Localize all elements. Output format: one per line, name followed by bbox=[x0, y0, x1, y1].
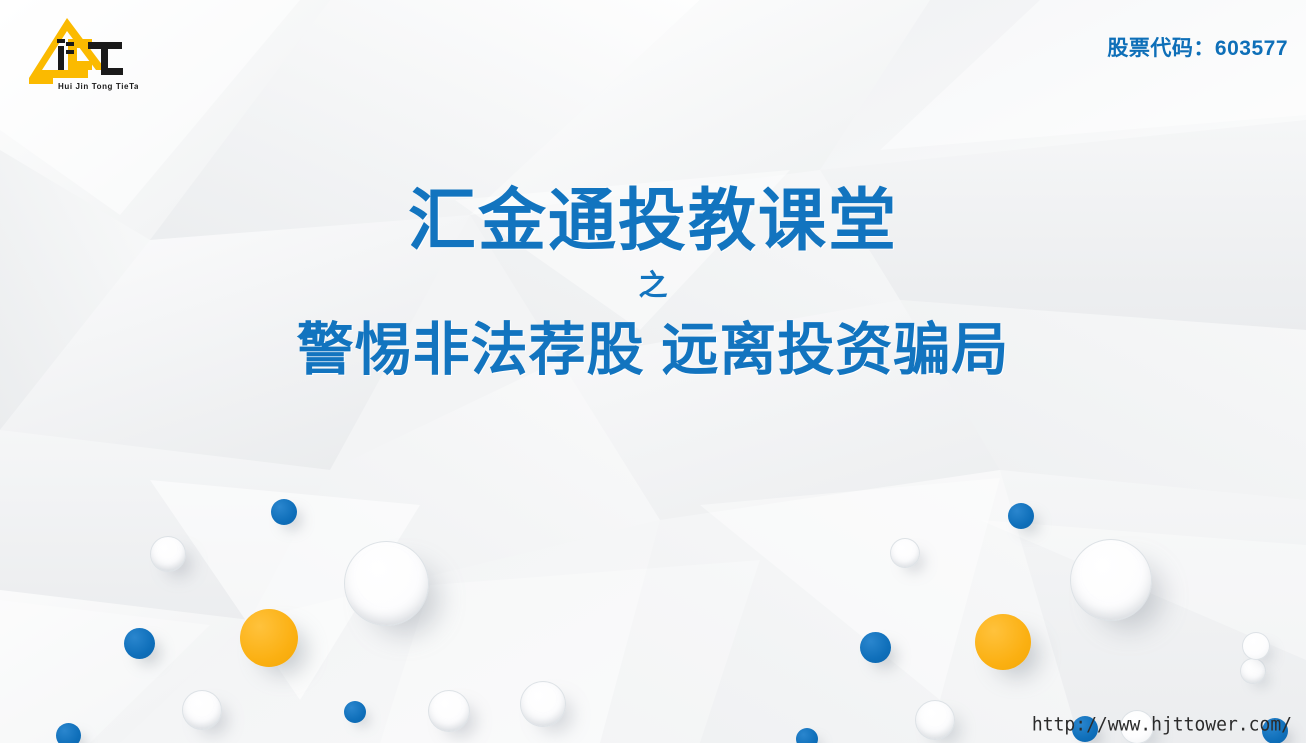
decorative-circle-white-8 bbox=[915, 700, 955, 740]
stock-code-label: 股票代码：603577 bbox=[1107, 32, 1288, 62]
decorative-circle-white-3 bbox=[428, 690, 470, 732]
company-logo: Hui Jin Tong TieTa bbox=[26, 14, 138, 96]
decorative-dot-blue-2 bbox=[124, 628, 155, 659]
svg-text:Hui Jin Tong TieTa: Hui Jin Tong TieTa bbox=[58, 82, 138, 91]
decorative-dot-orange-right bbox=[975, 614, 1031, 670]
decorative-dot-blue-1 bbox=[271, 499, 297, 525]
decorative-circle-white-6 bbox=[1240, 658, 1266, 684]
decorative-circle-white-large-left bbox=[344, 541, 429, 626]
decorative-circle-white-large-right bbox=[1070, 539, 1152, 621]
decorative-dot-blue-5 bbox=[1008, 503, 1034, 529]
decorative-circle-white-1 bbox=[150, 536, 186, 572]
decorative-circle-white-4 bbox=[520, 681, 566, 727]
decorative-dot-orange-left bbox=[240, 609, 298, 667]
decorative-circle-white-5 bbox=[890, 538, 920, 568]
page-title: 汇金通投教课堂 bbox=[0, 186, 1306, 257]
decorative-dot-blue-4 bbox=[344, 701, 366, 723]
hjt-tower-logo-icon: Hui Jin Tong TieTa bbox=[26, 14, 138, 96]
decorative-dot-blue-6 bbox=[860, 632, 891, 663]
decorative-dot-blue-7 bbox=[796, 728, 818, 743]
decorative-circle-white-7 bbox=[1242, 632, 1270, 660]
presentation-slide: Hui Jin Tong TieTa 股票代码：603577 汇金通投教课堂 之… bbox=[0, 0, 1306, 743]
title-block: 汇金通投教课堂 之 警惕非法荐股 远离投资骗局 bbox=[0, 186, 1306, 382]
decorative-circle-white-2 bbox=[182, 690, 222, 730]
title-connector: 之 bbox=[0, 271, 1306, 303]
decorative-dot-blue-3 bbox=[56, 723, 81, 743]
website-url-watermark: http://www.hjttower.com/ bbox=[1032, 713, 1292, 735]
page-subtitle: 警惕非法荐股 远离投资骗局 bbox=[0, 319, 1306, 382]
